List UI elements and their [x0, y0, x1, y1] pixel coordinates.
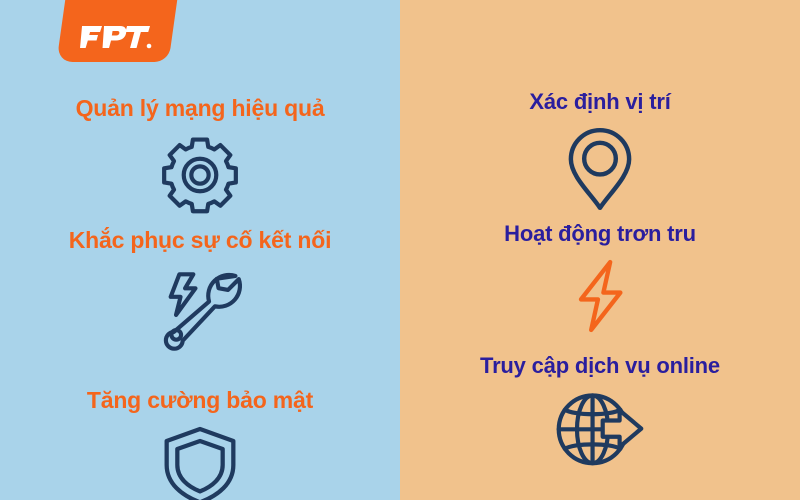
shield-icon — [157, 425, 243, 500]
location-pin-icon — [561, 126, 639, 212]
feature-label: Hoạt động trơn tru — [504, 222, 696, 246]
wrench-bolt-icon — [152, 265, 248, 353]
feature-label: Xác định vị trí — [529, 90, 670, 114]
fpt-logo-wordmark-icon — [80, 24, 152, 50]
feature-security: Tăng cường bảo mật — [0, 388, 400, 500]
feature-troubleshooting: Khắc phục sự cố kết nối — [0, 228, 400, 353]
feature-online-services: Truy cập dịch vụ online — [400, 354, 800, 474]
lightning-bolt-icon — [564, 258, 636, 334]
feature-label: Quản lý mạng hiệu quả — [76, 96, 325, 121]
feature-locate-position: Xác định vị trí — [400, 90, 800, 212]
gear-icon — [158, 133, 242, 217]
feature-label: Truy cập dịch vụ online — [480, 354, 720, 378]
feature-label: Khắc phục sự cố kết nối — [69, 228, 332, 253]
feature-network-management: Quản lý mạng hiệu quả — [0, 96, 400, 217]
globe-arrow-icon — [554, 390, 646, 474]
fpt-logo-inner — [80, 24, 152, 50]
feature-smooth-operation: Hoạt động trơn tru — [400, 222, 800, 334]
feature-label: Tăng cường bảo mật — [87, 388, 313, 413]
fpt-logo — [57, 0, 180, 62]
infographic-canvas: Quản lý mạng hiệu quả Khắc phục sự cố kế… — [0, 0, 800, 500]
